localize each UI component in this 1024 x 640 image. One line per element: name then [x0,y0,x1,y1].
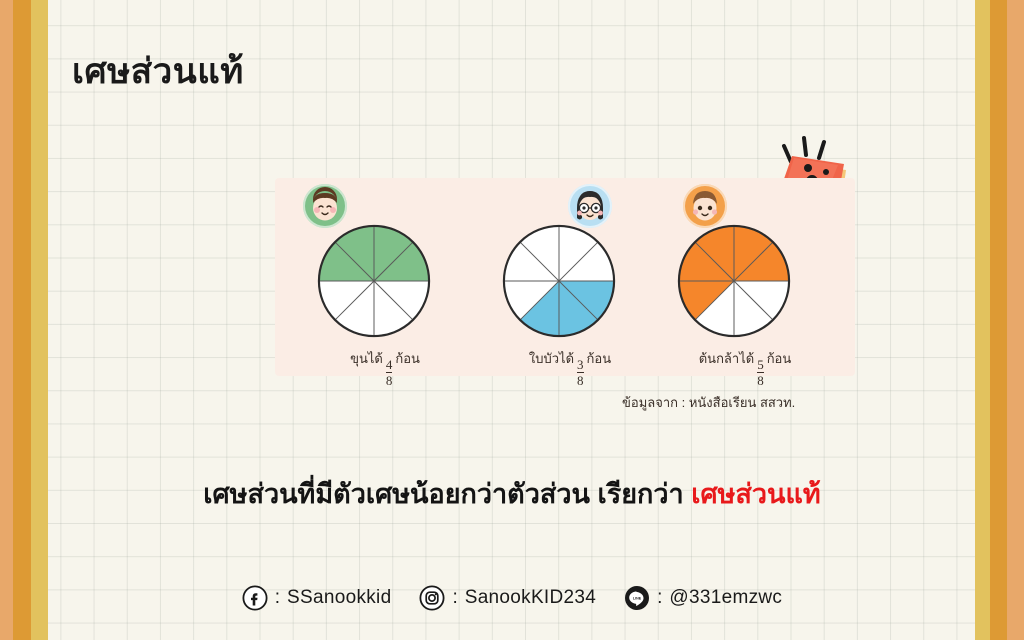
fraction-3: 58 [757,358,764,387]
social-facebook[interactable]: : SSanookkid [242,585,392,611]
right-stripe-light [1007,0,1024,640]
definition-highlight: เศษส่วนแท้ [691,479,820,509]
line-separator: : [657,587,662,609]
source-credit: ข้อมูลจาก : หนังสือเรียน สสวท. [622,392,795,413]
facebook-separator: : [275,587,280,609]
pie-caption-suffix-1: ก้อน [395,351,420,366]
social-line[interactable]: LINE : @331emzwc [624,585,782,611]
pie-caption-3: ต้นกล้าได้58ก้อน [655,348,835,387]
pie-caption-suffix-2: ก้อน [587,351,612,366]
numerator-1: 4 [386,358,393,372]
fraction-illustration-panel: ขุนได้48ก้อน [275,178,855,376]
fraction-1: 48 [386,358,393,387]
fraction-2: 38 [577,358,584,387]
pie-figure-1: ขุนได้48ก้อน [295,208,475,368]
denominator-3: 8 [757,372,764,387]
instagram-icon [419,585,445,611]
line-handle: @331emzwc [669,587,782,609]
definition-text: เศษส่วนที่มีตัวเศษน้อยกว่าตัวส่วน เรียกว… [203,479,683,509]
pie-chart-1 [315,222,433,340]
numerator-2: 3 [577,358,584,372]
instagram-handle: SanookKID234 [465,587,596,609]
boy-green-avatar [303,184,347,228]
line-icon: LINE [624,585,650,611]
pie-chart-2 [500,222,618,340]
social-footer: : SSanookkid : SanookKID234 [0,585,1024,611]
left-stripe-gold [31,0,48,640]
pie-caption-prefix-3: ต้นกล้าได้ [699,351,754,366]
pie-caption-prefix-1: ขุนได้ [350,351,383,366]
slide-canvas: เศษส่วนแท้ [0,0,1024,640]
facebook-handle: SSanookkid [287,587,391,609]
denominator-2: 8 [577,372,584,387]
svg-text:LINE: LINE [633,597,642,601]
page-title: เศษส่วนแท้ [72,44,244,99]
numerator-3: 5 [757,358,764,372]
pie-figure-2: ใบบัวได้38ก้อน [480,208,660,368]
pie-figure-3: ต้นกล้าได้58ก้อน [655,208,835,368]
boy-orange-avatar [683,184,727,228]
pie-caption-suffix-3: ก้อน [767,351,792,366]
denominator-1: 8 [386,372,393,387]
facebook-icon [242,585,268,611]
pie-caption-2: ใบบัวได้38ก้อน [480,348,660,387]
social-instagram[interactable]: : SanookKID234 [419,585,596,611]
left-stripe-amber [13,0,33,640]
definition-statement: เศษส่วนที่มีตัวเศษน้อยกว่าตัวส่วน เรียกว… [0,472,1024,515]
girl-glasses-blue-avatar [568,184,612,228]
pie-chart-3 [675,222,793,340]
pie-caption-prefix-2: ใบบัวได้ [529,351,574,366]
instagram-separator: : [452,587,457,609]
pie-caption-1: ขุนได้48ก้อน [295,348,475,387]
